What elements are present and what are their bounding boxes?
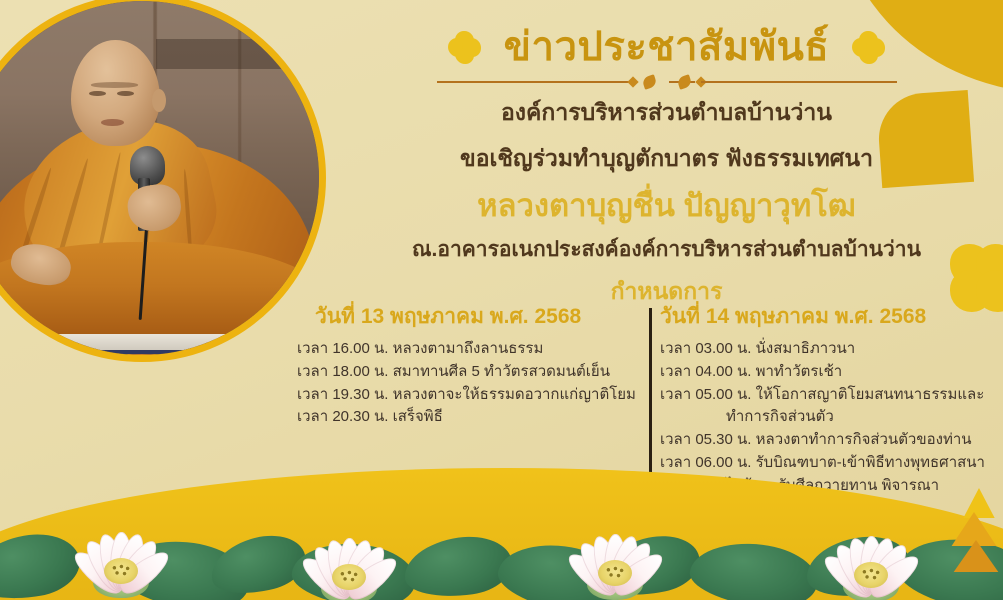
schedule-item: เวลา 06.00 น. รับบิณฑบาต-เข้าพิธีทางพุทธ…	[660, 452, 987, 475]
schedule-item: เวลา 04.00 น. พาทำวัตรเช้า	[660, 361, 987, 384]
venue-line: ณ.อาคารอเนกประสงค์องค์การบริหารส่วนตำบลบ…	[330, 236, 1003, 264]
schedule-item-continuation: ทำการกิจส่วนตัว	[660, 406, 987, 429]
schedule-item: เวลา 05.00 น. ให้โอกาสญาติโยมสนทนาธรรมแล…	[660, 384, 987, 407]
organization-name: องค์การบริหารส่วนตำบลบ้านว่าน	[330, 96, 1003, 129]
monk-eye-right	[117, 91, 134, 96]
schedule-item: เวลา 16.00 น. หลวงตามาถึงลานธรรม	[297, 338, 628, 361]
divider-diamond-left	[627, 76, 638, 87]
page-title: ข่าวประชาสัมพันธ์	[504, 24, 830, 70]
schedule-item: เวลา 05.30 น. หลวงตาทำการกิจส่วนตัวของท่…	[660, 429, 987, 452]
schedule-heading-day1: วันที่ 13 พฤษภาคม พ.ศ. 2568	[297, 300, 628, 333]
divider-rule-left	[437, 81, 633, 83]
monk-name: หลวงตาบุญชื่น ปัญญาวุทโฒ	[330, 187, 1003, 226]
invitation-line: ขอเชิญร่วมทำบุญตักบาตร ฟังธรรมเทศนา	[330, 142, 1003, 175]
divider-leaf-left	[641, 74, 657, 89]
monk-eye-left	[89, 91, 106, 96]
photo-background-shadow	[156, 39, 319, 69]
schedule-item: เวลา 03.00 น. นั่งสมาธิภาวนา	[660, 338, 987, 361]
schedule-item: เวลา 18.00 น. สมาทานศีล 5 ทำวัตรสวดมนต์เ…	[297, 361, 628, 384]
schedule-item-continuation-text: ทำการกิจส่วนตัว	[660, 406, 987, 429]
monk-ear	[152, 89, 166, 112]
title-row: ข่าวประชาสัมพันธ์	[330, 24, 1003, 70]
schedule-item: เวลา 20.30 น. เสร็จพิธี	[297, 406, 628, 429]
schedule-item: เวลา 19.30 น. หลวงตาจะให้ธรรมดอวากแก่ญาต…	[297, 384, 628, 407]
monk-head	[71, 40, 160, 146]
quatrefoil-icon-right	[851, 30, 885, 64]
announcement-poster: ข่าวประชาสัมพันธ์ องค์การบริหารส่วนตำบลบ…	[0, 0, 1003, 600]
schedule-heading-day2: วันที่ 14 พฤษภาคม พ.ศ. 2568	[660, 300, 987, 333]
decorative-divider	[437, 74, 897, 90]
divider-rule-right	[701, 81, 897, 83]
thai-gold-spire-ornament	[935, 488, 1003, 572]
divider-leaf-right	[676, 74, 692, 89]
quatrefoil-icon-left	[448, 30, 482, 64]
monk-brow	[91, 82, 139, 87]
monk-mouth	[101, 119, 124, 126]
